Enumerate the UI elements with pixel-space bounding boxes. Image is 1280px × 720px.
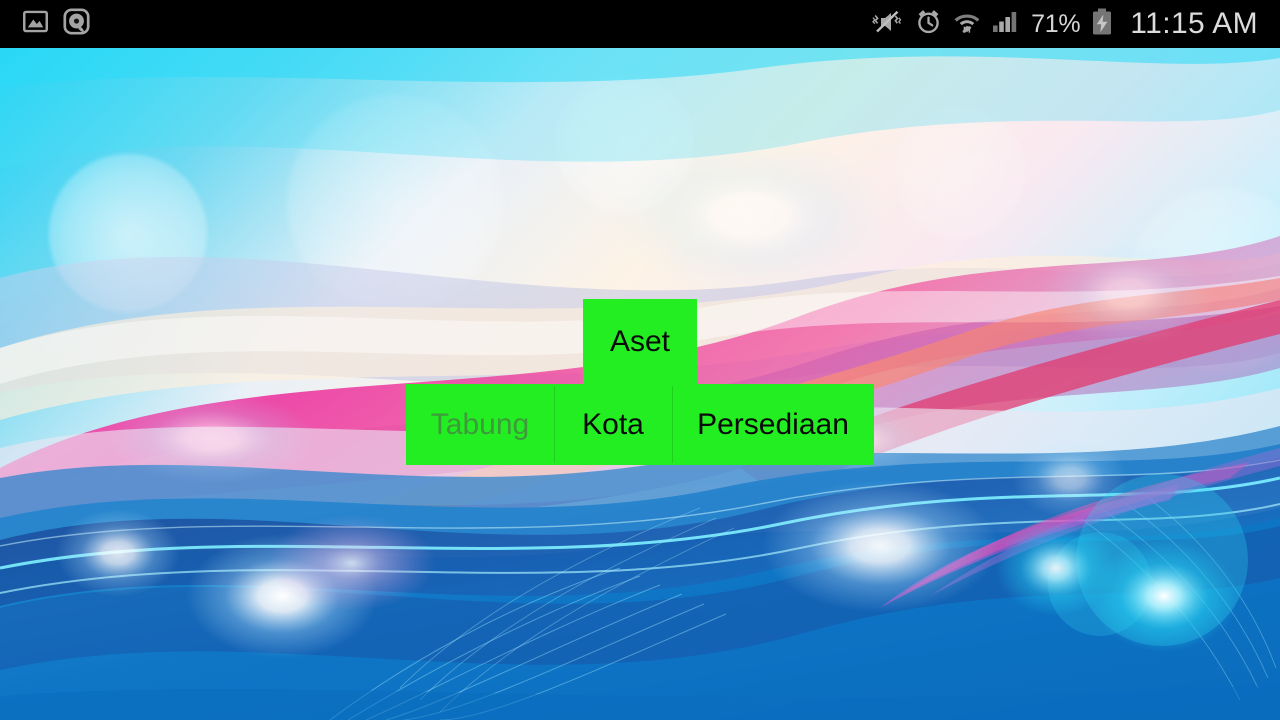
status-bar-clock: 11:15 AM	[1130, 7, 1258, 41]
screenshot-image-icon	[22, 8, 49, 40]
button-divider-kota-persediaan	[672, 386, 673, 463]
vibrate-mute-icon	[872, 8, 904, 41]
persediaan-button[interactable]: Persediaan	[672, 384, 874, 465]
battery-percent-label: 71%	[1031, 10, 1080, 39]
music-disc-icon	[63, 8, 90, 40]
kota-button[interactable]: Kota	[554, 384, 672, 465]
button-cluster: Aset Tabung Kota Persediaan	[0, 0, 1280, 720]
device-screen: 71% 11:15 AM	[0, 0, 1280, 720]
status-bar-notification-icons	[0, 8, 90, 40]
status-bar-system-icons: 71% 11:15 AM	[872, 7, 1280, 41]
button-divider-tabung-kota	[554, 386, 555, 463]
alarm-clock-icon	[915, 8, 942, 40]
signal-bars-icon	[992, 8, 1020, 40]
status-bar: 71% 11:15 AM	[0, 0, 1280, 48]
battery-charging-icon	[1091, 8, 1113, 41]
aset-button[interactable]: Aset	[583, 299, 697, 384]
tabung-button[interactable]: Tabung	[406, 384, 554, 465]
wifi-data-icon	[953, 8, 981, 40]
